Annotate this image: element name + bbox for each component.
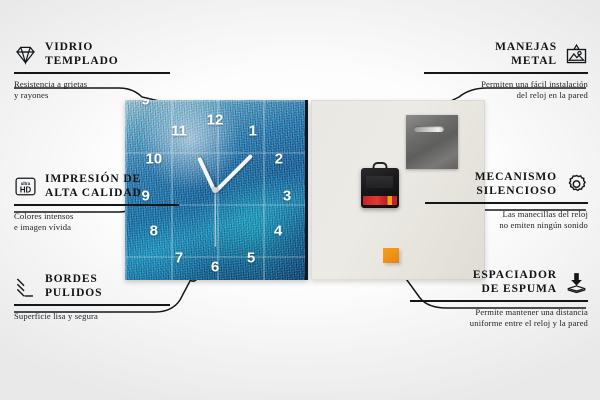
callout-divider bbox=[14, 204, 179, 206]
callout-mecanismo-silencioso: MECANISMO SILENCIOSO Las manecillas del … bbox=[425, 170, 588, 232]
clock-numeral-8: 8 bbox=[150, 224, 158, 239]
callout-divider bbox=[14, 304, 170, 306]
callout-title-line2: METAL bbox=[511, 55, 557, 67]
callout-bordes-pulidos: BORDES PULIDOS Superficie lisa y segura bbox=[14, 272, 170, 322]
mechanism-hanging-loop bbox=[373, 162, 388, 171]
callout-vidrio-templado: VIDRIO TEMPLADO Resistencia a grietas y … bbox=[14, 40, 170, 102]
callout-manejas-metal: MANEJAS METAL Permiten una fácil instala… bbox=[424, 40, 588, 102]
callout-title: BORDES PULIDOS bbox=[45, 272, 102, 300]
clock-numeral-6: 6 bbox=[211, 260, 219, 275]
callout-header: ESPACIADOR DE ESPUMA bbox=[410, 268, 588, 296]
callout-description: Superficie lisa y segura bbox=[14, 311, 170, 323]
callout-title-line1: VIDRIO bbox=[45, 41, 93, 53]
callout-title-line2: TEMPLADO bbox=[45, 55, 119, 67]
callout-desc-line2: uniforme entre el reloj y la pared bbox=[470, 318, 588, 328]
callout-title: MECANISMO SILENCIOSO bbox=[475, 170, 557, 198]
mechanism-body-detail bbox=[366, 176, 393, 188]
callout-title-line1: BORDES bbox=[45, 273, 98, 285]
callout-title-line2: SILENCIOSO bbox=[476, 185, 557, 197]
clock-numeral-3: 3 bbox=[283, 189, 291, 204]
callout-title: ESPACIADOR DE ESPUMA bbox=[473, 268, 557, 296]
clock-second-hand bbox=[214, 191, 215, 247]
callout-title: VIDRIO TEMPLADO bbox=[45, 40, 119, 68]
callout-title-line2: ALTA CALIDAD bbox=[45, 187, 142, 199]
clock-numeral-12: 12 bbox=[207, 112, 224, 127]
ultra-hd-icon: ultra HD bbox=[14, 175, 37, 198]
callout-title: MANEJAS METAL bbox=[495, 40, 557, 68]
callout-title-line1: IMPRESIÓN DE bbox=[45, 173, 141, 185]
callout-divider bbox=[424, 72, 588, 74]
callout-desc-line1: Permite mantener una distancia bbox=[475, 307, 588, 317]
callout-description: Permite mantener una distancia uniforme … bbox=[410, 307, 588, 331]
callout-desc-line2: y rayones bbox=[14, 90, 49, 100]
clock-numeral-1: 1 bbox=[249, 123, 257, 138]
callout-espaciador-espuma: ESPACIADOR DE ESPUMA Permite mantener un… bbox=[410, 268, 588, 330]
foam-spacer bbox=[383, 248, 399, 263]
callout-divider bbox=[14, 72, 170, 74]
clock-numeral-9b: 9 bbox=[142, 189, 150, 204]
mechanism-red-label bbox=[363, 196, 397, 205]
clock-numeral-10: 10 bbox=[145, 152, 162, 167]
callout-header: MECANISMO SILENCIOSO bbox=[425, 170, 588, 198]
callout-desc-line1: Colores intensos bbox=[14, 211, 73, 221]
foam-spacer-arrow-icon bbox=[565, 271, 588, 294]
callout-description: Las manecillas del reloj no emiten ningú… bbox=[425, 209, 588, 233]
callout-desc-line2: no emiten ningún sonido bbox=[499, 220, 588, 230]
callout-title-line1: MECANISMO bbox=[475, 171, 557, 183]
clock-numeral-9: 9 bbox=[142, 100, 150, 108]
metal-hanger-plate bbox=[406, 115, 458, 169]
infographic-stage: 12 1 2 3 4 5 6 7 8 9 9 10 11 bbox=[0, 0, 600, 400]
hanger-keyhole-slot bbox=[414, 126, 444, 132]
wall-hanging-picture-icon bbox=[565, 43, 588, 66]
callout-header: MANEJAS METAL bbox=[424, 40, 588, 68]
callout-title-line1: ESPACIADOR bbox=[473, 269, 557, 281]
clock-numeral-5: 5 bbox=[247, 251, 255, 266]
diamond-icon bbox=[14, 43, 37, 66]
clock-center-hub bbox=[212, 187, 218, 193]
callout-desc-line1: Resistencia a grietas bbox=[14, 79, 87, 89]
callout-title-line2: DE ESPUMA bbox=[481, 283, 557, 295]
clock-numeral-7: 7 bbox=[175, 251, 183, 266]
polished-edges-icon bbox=[14, 275, 37, 298]
clock-numeral-2: 2 bbox=[275, 152, 283, 167]
clock-minute-hand bbox=[214, 154, 254, 194]
clock-numeral-4: 4 bbox=[274, 224, 282, 239]
callout-desc-line1: Superficie lisa y segura bbox=[14, 311, 98, 321]
callout-desc-line1: Las manecillas del reloj bbox=[503, 209, 588, 219]
callout-desc-line2: del reloj en la pared bbox=[517, 90, 588, 100]
callout-description: Resistencia a grietas y rayones bbox=[14, 79, 170, 103]
callout-description: Permiten una fácil instalación del reloj… bbox=[424, 79, 588, 103]
callout-divider bbox=[410, 300, 588, 302]
clock-numeral-11: 11 bbox=[171, 123, 187, 138]
quartz-clock-mechanism bbox=[361, 168, 399, 208]
callout-header: BORDES PULIDOS bbox=[14, 272, 170, 300]
callout-title: IMPRESIÓN DE ALTA CALIDAD bbox=[45, 172, 142, 200]
callout-header: VIDRIO TEMPLADO bbox=[14, 40, 170, 68]
svg-text:HD: HD bbox=[20, 185, 32, 194]
callout-desc-line1: Permiten una fácil instalación bbox=[481, 79, 588, 89]
callout-title-line2: PULIDOS bbox=[45, 287, 102, 299]
callout-divider bbox=[425, 202, 588, 204]
callout-header: ultra HD IMPRESIÓN DE ALTA CALIDAD bbox=[14, 172, 179, 200]
callout-desc-line2: e imagen vívida bbox=[14, 222, 71, 232]
gear-icon bbox=[565, 173, 588, 196]
callout-title-line1: MANEJAS bbox=[495, 41, 557, 53]
